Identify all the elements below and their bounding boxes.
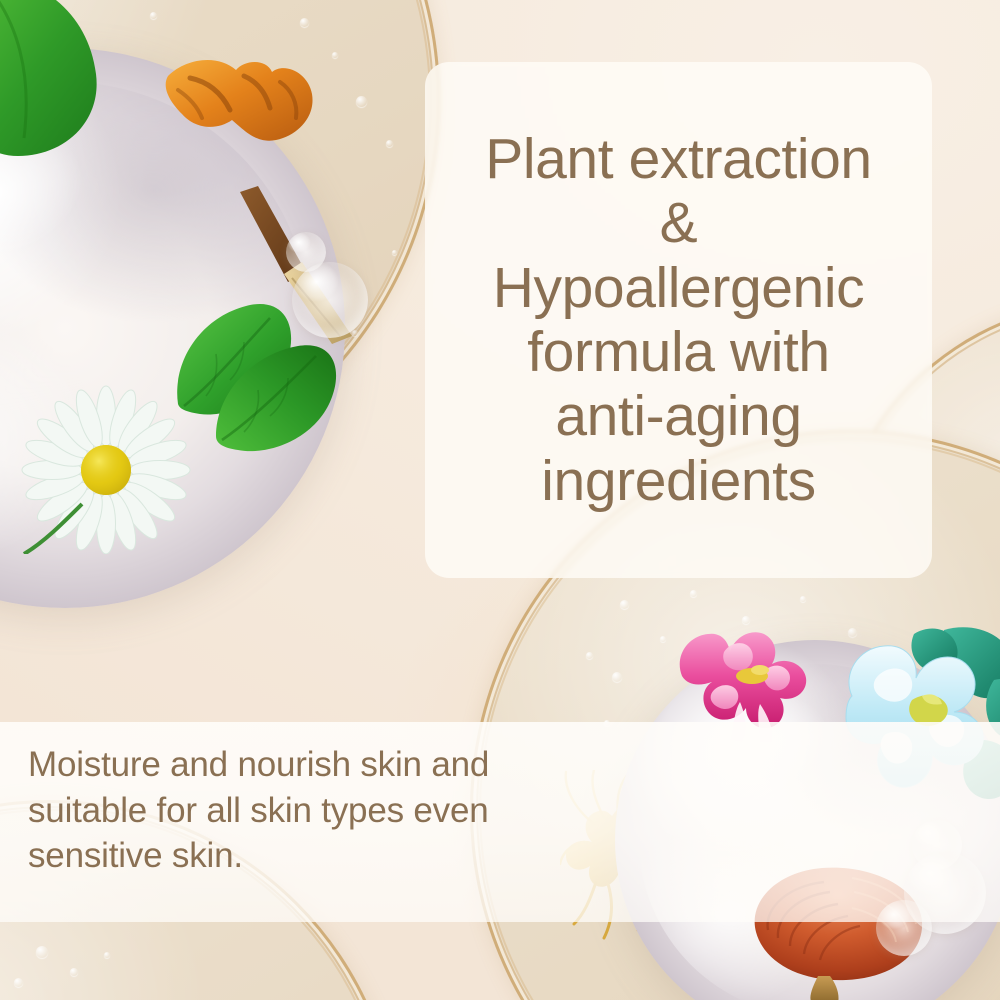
water-droplet	[104, 952, 110, 958]
water-droplet	[620, 600, 629, 609]
green-leaf	[212, 340, 344, 461]
chamomile-flower	[18, 378, 194, 554]
water-droplet	[332, 52, 338, 58]
water-droplet	[150, 12, 157, 19]
headline-card-inner: Plant extraction & Hypoallergenic formul…	[425, 62, 932, 578]
water-droplet	[14, 978, 23, 987]
gel-bead	[292, 262, 368, 338]
water-droplet	[800, 596, 806, 602]
water-droplet	[386, 140, 393, 147]
water-droplet	[690, 590, 697, 597]
infographic-canvas: Plant extraction & Hypoallergenic formul…	[0, 0, 1000, 1000]
water-droplet	[586, 652, 593, 659]
water-droplet	[612, 672, 622, 682]
headline-text: Plant extraction & Hypoallergenic formul…	[485, 127, 871, 513]
water-droplet	[70, 968, 78, 976]
water-droplet	[356, 96, 367, 107]
water-droplet	[300, 18, 309, 27]
water-droplet	[36, 946, 48, 958]
dried-orange-peel	[160, 52, 320, 167]
water-droplet	[392, 250, 397, 255]
green-leaf	[0, 0, 110, 160]
headline-card: Plant extraction & Hypoallergenic formul…	[425, 62, 932, 578]
subcopy-text: Moisture and nourish skin and suitable f…	[28, 742, 608, 879]
